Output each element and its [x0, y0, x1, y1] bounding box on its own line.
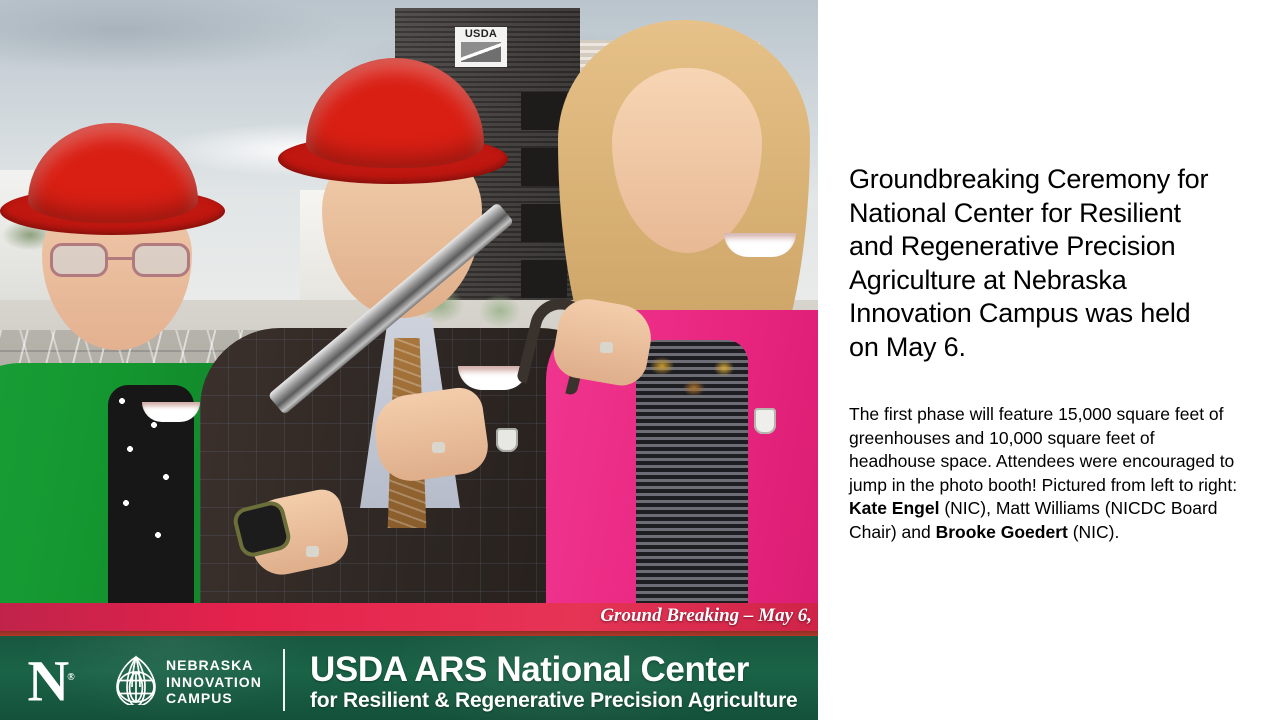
text-panel: Groundbreaking Ceremony for National Cen… [849, 0, 1249, 720]
nic-globe-logo-icon [113, 655, 159, 705]
banner-top-rule [0, 631, 818, 636]
red-hard-hat [28, 123, 198, 223]
nic-line-1: NEBRASKA [166, 657, 262, 674]
nebraska-n-letter: N [27, 648, 67, 713]
body-part-1: The first phase will feature 15,000 squa… [849, 404, 1237, 495]
red-hard-hat [306, 58, 484, 168]
banner-subtitle: for Resilient & Regenerative Precision A… [310, 689, 798, 712]
gold-necklace [640, 340, 746, 420]
ring [600, 342, 613, 353]
ring [306, 546, 319, 557]
slide: USDA [0, 0, 1280, 720]
glasses-icon [50, 243, 190, 277]
person-name-brooke-goedert: Brooke Goedert [936, 522, 1068, 542]
body-part-3: (NIC). [1068, 522, 1120, 542]
page-title: Groundbreaking Ceremony for National Cen… [849, 163, 1221, 364]
glasses-bridge [108, 257, 132, 260]
ring [432, 442, 445, 453]
glasses-lens [50, 243, 108, 277]
person-name-kate-engel: Kate Engel [849, 498, 939, 518]
banner-divider [283, 649, 285, 711]
nebraska-n-logo: N® [18, 653, 82, 705]
nic-wordmark: NEBRASKA INNOVATION CAMPUS [166, 657, 262, 707]
body-paragraph: The first phase will feature 15,000 squa… [849, 403, 1241, 544]
photo-booth-caption-text: Ground Breaking – May 6, [600, 605, 812, 627]
banner-title: USDA ARS National Center [310, 651, 749, 688]
nic-line-2: INNOVATION [166, 674, 262, 691]
nic-line-3: CAMPUS [166, 690, 262, 707]
registered-mark: ® [67, 672, 72, 683]
ceremony-photo: USDA [0, 0, 818, 720]
photo-booth-caption-strip: Ground Breaking – May 6, [0, 603, 818, 631]
nic-lapel-pin [754, 408, 776, 434]
glasses-lens [132, 243, 190, 277]
lapel-pin [496, 428, 518, 452]
sponsor-banner: N® [0, 631, 818, 720]
